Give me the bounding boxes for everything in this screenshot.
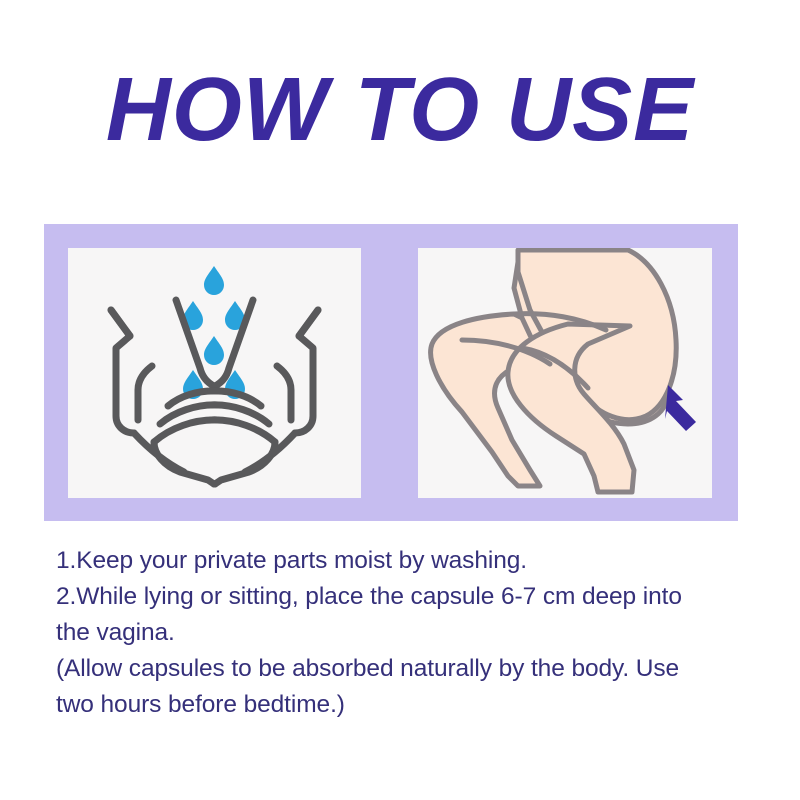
instruction-line: the vagina.	[56, 615, 748, 651]
panel-hand-washing	[68, 248, 361, 498]
illustration-band	[44, 224, 738, 521]
panel-body-position	[418, 248, 712, 498]
instruction-line: 1.Keep your private parts moist by washi…	[56, 543, 748, 579]
instruction-text-block: 1.Keep your private parts moist by washi…	[56, 543, 748, 723]
how-to-use-page: HOW TO USE	[0, 0, 800, 800]
instruction-line: 2.While lying or sitting, place the caps…	[56, 579, 748, 615]
hand-washing-icon	[68, 248, 361, 498]
instruction-line: two hours before bedtime.)	[56, 687, 748, 723]
page-title: HOW TO USE	[0, 62, 800, 158]
seated-position-icon	[418, 248, 712, 498]
instruction-line: (Allow capsules to be absorbed naturally…	[56, 651, 748, 687]
